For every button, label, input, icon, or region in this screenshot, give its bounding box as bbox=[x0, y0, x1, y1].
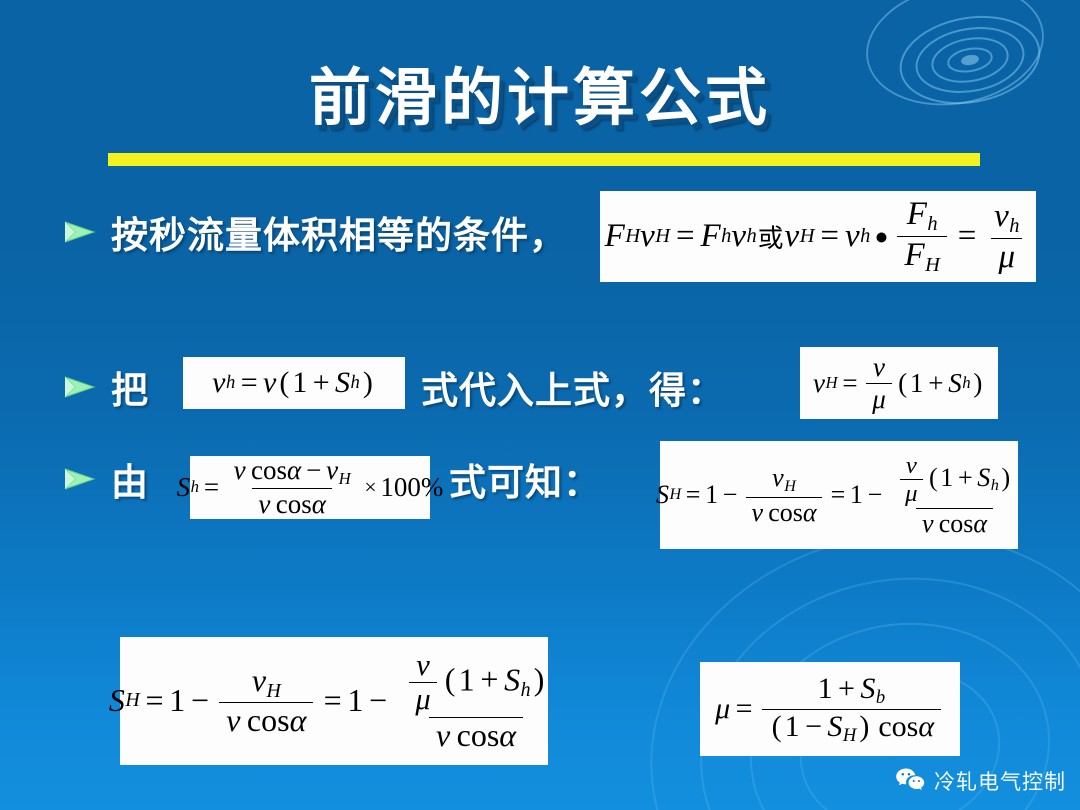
formula-entry-speed: vH = v μ (1+Sh) bbox=[813, 353, 985, 412]
bullet-row-1: 按秒流量体积相等的条件， bbox=[63, 205, 567, 259]
formula-mu: μ = 1+Sb (1−SH) cosα bbox=[715, 673, 945, 745]
bullet-text-1: 按秒流量体积相等的条件， bbox=[111, 205, 567, 259]
formula-volume-flow: FHvH = Fhvh 或 vH = vh ● Fh FH = vh μ bbox=[605, 197, 1032, 276]
formula-sH-derivation: SH =1− vH v cosα =1− v μ (1+Sh) v cosα bbox=[656, 453, 1022, 537]
formula-exit-speed: vh = v(1+Sh) bbox=[212, 366, 376, 400]
formula-box-volume-flow: FHvH = Fhvh 或 vH = vh ● Fh FH = vh μ bbox=[600, 191, 1036, 282]
formula-box-sH-derivation-large: SH =1− vH v cosα =1− v μ (1+Sh) v cosα bbox=[120, 637, 548, 765]
watermark: 冷轧电气控制 bbox=[895, 766, 1066, 796]
formula-box-sh-definition: Sh = v cosα−vH v cosα ×100% bbox=[190, 456, 430, 519]
bullet-text-2-after: 式代入上式，得： bbox=[421, 360, 725, 414]
formula-box-sH-derivation: SH =1− vH v cosα =1− v μ (1+Sh) v cosα bbox=[660, 441, 1018, 549]
slide-canvas: 前滑的计算公式 按秒流量体积相等的条件， FHvH = Fhvh 或 vH = … bbox=[0, 0, 1080, 810]
formula-box-entry-speed: vH = v μ (1+Sh) bbox=[800, 347, 998, 419]
title-divider bbox=[108, 153, 980, 166]
formula-box-mu: μ = 1+Sb (1−SH) cosα bbox=[700, 662, 960, 756]
formula-box-exit-speed: vh = v(1+Sh) bbox=[183, 357, 405, 409]
slide-title: 前滑的计算公式 bbox=[0, 47, 1080, 137]
formula-sH-derivation-large: SH =1− vH v cosα =1− v μ (1+Sh) v cosα bbox=[109, 650, 559, 752]
watermark-text: 冷轧电气控制 bbox=[934, 766, 1066, 796]
arrow-bullet-icon bbox=[63, 374, 97, 400]
bullet-text-2-before: 把 bbox=[111, 360, 149, 414]
arrow-bullet-icon bbox=[63, 219, 97, 245]
bullet-text-3-before: 由 bbox=[111, 452, 149, 506]
wechat-icon bbox=[895, 767, 925, 796]
bullet-text-3-after: 式可知： bbox=[449, 452, 601, 506]
formula-sh-definition: Sh = v cosα−vH v cosα ×100% bbox=[177, 456, 444, 518]
arrow-bullet-icon bbox=[63, 466, 97, 492]
